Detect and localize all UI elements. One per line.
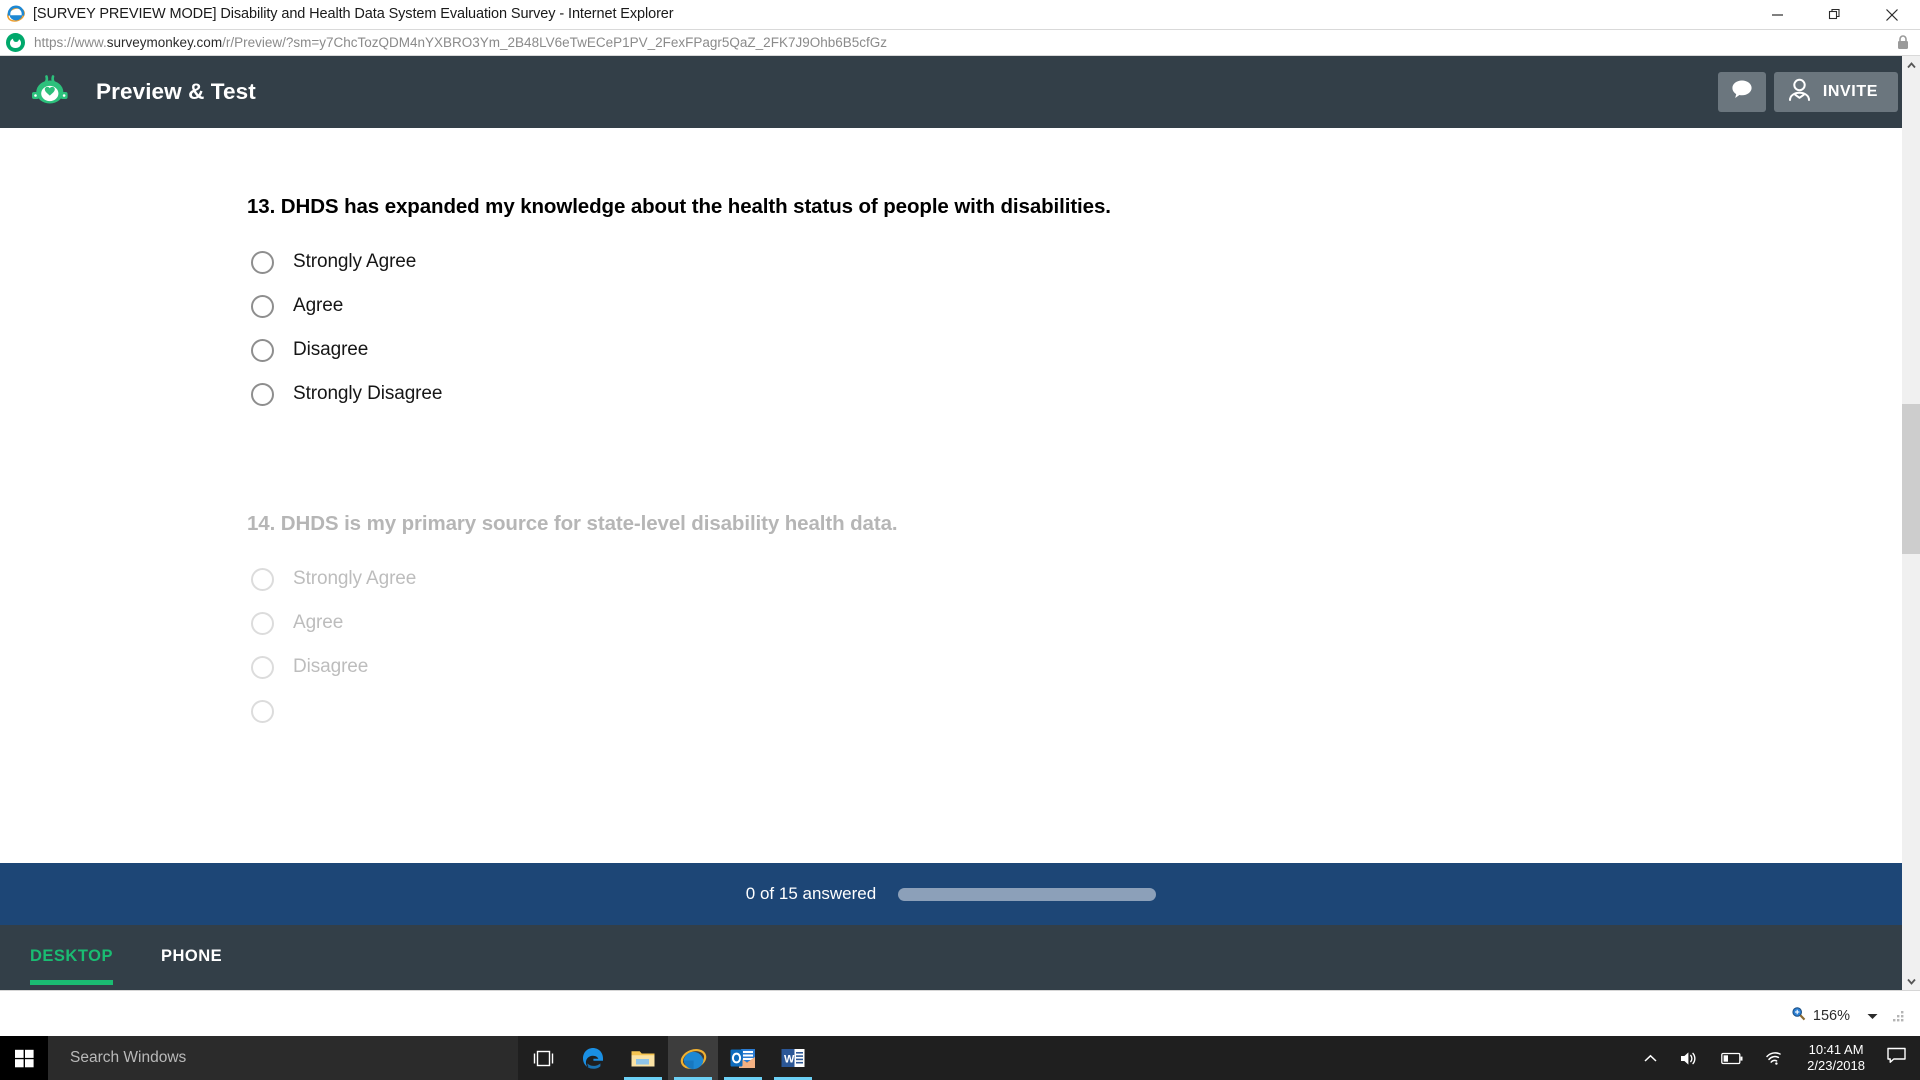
option-label: Strongly Agree — [293, 568, 416, 590]
question-block-14: 14. DHDS is my primary source for state-… — [247, 512, 1902, 733]
clock-date: 2/23/2018 — [1807, 1058, 1865, 1074]
question-block-13: 13. DHDS has expanded my knowledge about… — [247, 195, 1902, 416]
radio-icon[interactable] — [251, 251, 274, 274]
word-icon[interactable]: W — [768, 1036, 818, 1080]
close-button[interactable] — [1863, 0, 1920, 29]
option-14-agree[interactable]: Agree — [247, 601, 1902, 645]
option-label: Strongly Agree — [293, 251, 416, 273]
option-14-strongly-disagree[interactable] — [247, 689, 1902, 733]
option-14-strongly-agree[interactable]: Strongly Agree — [247, 557, 1902, 601]
show-hidden-icons-button[interactable] — [1633, 1036, 1668, 1080]
invite-button[interactable]: INVITE — [1774, 72, 1898, 112]
device-preview-tabs: DESKTOP PHONE — [0, 925, 1902, 990]
radio-icon[interactable] — [251, 568, 274, 591]
chat-bubble-icon — [1731, 79, 1753, 105]
invite-label: INVITE — [1823, 83, 1878, 101]
progress-footer: 0 of 15 answered — [0, 863, 1902, 925]
scroll-down-button[interactable] — [1902, 972, 1920, 990]
surveymonkey-logo — [26, 72, 74, 112]
browser-status-bar: 156% — [0, 990, 1920, 1040]
survey-content: 13. DHDS has expanded my knowledge about… — [0, 128, 1902, 733]
windows-start-icon[interactable] — [0, 1036, 48, 1080]
taskbar-clock[interactable]: 10:41 AM 2/23/2018 — [1795, 1036, 1877, 1080]
url-scheme: https://www. — [34, 35, 107, 50]
taskbar-apps: W — [518, 1036, 818, 1080]
person-icon — [1788, 78, 1811, 107]
tab-phone[interactable]: PHONE — [161, 947, 222, 985]
chevron-down-icon[interactable] — [1867, 1007, 1878, 1025]
browser-viewport: Preview & Test INVITE — [0, 56, 1920, 1040]
system-tray: 10:41 AM 2/23/2018 — [1633, 1036, 1920, 1080]
window-controls — [1749, 0, 1920, 29]
microsoft-edge-icon[interactable] — [568, 1036, 618, 1080]
windows-taskbar: Search Windows — [0, 1036, 1920, 1080]
option-label: Agree — [293, 295, 343, 317]
task-view-icon[interactable] — [518, 1036, 568, 1080]
minimize-button[interactable] — [1749, 0, 1806, 29]
zoom-indicator[interactable]: 156% — [1791, 1006, 1878, 1026]
option-13-disagree[interactable]: Disagree — [247, 328, 1902, 372]
option-label: Disagree — [293, 339, 368, 361]
header-actions: INVITE — [1718, 72, 1898, 112]
option-14-disagree[interactable]: Disagree — [247, 645, 1902, 689]
speaker-icon[interactable] — [1668, 1036, 1710, 1080]
outlook-icon[interactable] — [718, 1036, 768, 1080]
search-windows-input[interactable]: Search Windows — [48, 1036, 518, 1080]
question-title-14: 14. DHDS is my primary source for state-… — [247, 512, 1902, 536]
address-bar-url[interactable]: https://www.surveymonkey.com/r/Preview/?… — [34, 35, 887, 50]
radio-icon[interactable] — [251, 295, 274, 318]
zoom-level: 156% — [1813, 1008, 1850, 1024]
notification-icon[interactable] — [1877, 1047, 1920, 1069]
radio-icon[interactable] — [251, 656, 274, 679]
tab-desktop[interactable]: DESKTOP — [30, 947, 113, 985]
search-placeholder: Search Windows — [70, 1049, 186, 1067]
battery-icon[interactable] — [1710, 1036, 1754, 1080]
restore-button[interactable] — [1806, 0, 1863, 29]
wifi-icon[interactable] — [1754, 1036, 1795, 1080]
surveymonkey-preview-header: Preview & Test INVITE — [0, 56, 1920, 128]
option-label: Disagree — [293, 656, 368, 678]
lock-icon — [1896, 34, 1910, 56]
svg-text:W: W — [784, 1053, 795, 1065]
page-scrollbar[interactable] — [1902, 56, 1920, 990]
file-explorer-icon[interactable] — [618, 1036, 668, 1080]
url-path: /r/Preview/?sm=y7ChcTozQDM4nYXBRO3Ym_2B4… — [222, 35, 887, 50]
clock-time: 10:41 AM — [1809, 1042, 1864, 1058]
radio-icon[interactable] — [251, 700, 274, 723]
preview-title: Preview & Test — [96, 79, 256, 105]
scroll-up-button[interactable] — [1902, 56, 1920, 74]
internet-explorer-icon — [6, 4, 26, 24]
window-title: [SURVEY PREVIEW MODE] Disability and Hea… — [33, 6, 674, 22]
radio-icon[interactable] — [251, 612, 274, 635]
scrollbar-thumb[interactable] — [1902, 404, 1920, 554]
internet-explorer-icon[interactable] — [668, 1036, 718, 1080]
surveymonkey-favicon — [6, 33, 25, 52]
option-label: Agree — [293, 612, 343, 634]
option-13-strongly-agree[interactable]: Strongly Agree — [247, 240, 1902, 284]
option-label: Strongly Disagree — [293, 383, 442, 405]
progress-label: 0 of 15 answered — [746, 884, 876, 904]
radio-icon[interactable] — [251, 383, 274, 406]
option-13-strongly-disagree[interactable]: Strongly Disagree — [247, 372, 1902, 416]
radio-icon[interactable] — [251, 339, 274, 362]
progress-bar — [898, 888, 1156, 901]
url-domain: surveymonkey.com — [107, 35, 222, 50]
window-title-bar: [SURVEY PREVIEW MODE] Disability and Hea… — [0, 0, 1920, 29]
address-bar[interactable]: https://www.surveymonkey.com/r/Preview/?… — [0, 29, 1920, 56]
option-13-agree[interactable]: Agree — [247, 284, 1902, 328]
magnifier-icon — [1791, 1006, 1806, 1026]
chat-button[interactable] — [1718, 72, 1766, 112]
question-title-13: 13. DHDS has expanded my knowledge about… — [247, 195, 1902, 219]
resize-grip-icon[interactable] — [1892, 1009, 1906, 1023]
